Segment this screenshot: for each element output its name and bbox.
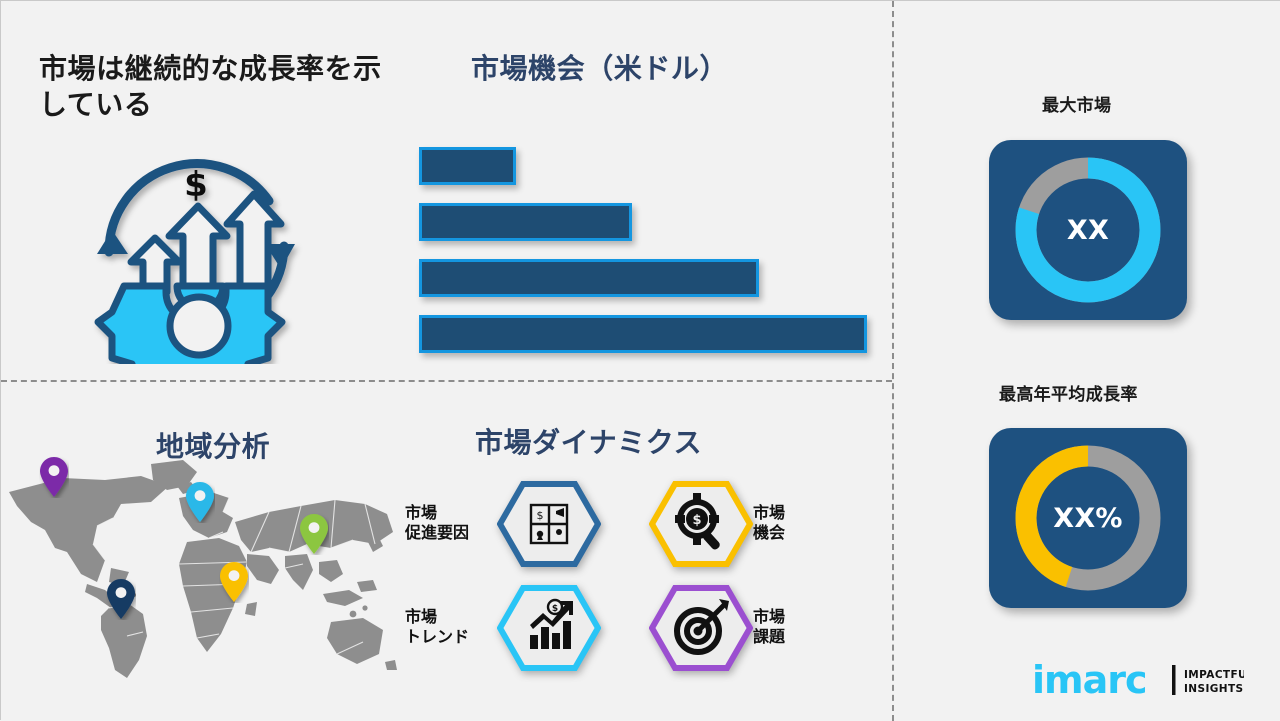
bar-row	[419, 203, 632, 241]
dynamics-panel-title: 市場ダイナミクス	[475, 425, 702, 461]
dynamics-item-label: 市場 促進要因	[405, 503, 497, 543]
bar-row	[419, 315, 867, 353]
map-pin-east-asia[interactable]	[299, 513, 329, 555]
dynamics-item-label: 市場 機会	[753, 503, 845, 543]
map-pin-europe[interactable]	[185, 481, 215, 523]
world-map	[1, 456, 401, 686]
bar-2	[419, 203, 632, 241]
hexagon-challenges	[649, 585, 749, 669]
dynamics-item-drivers[interactable]: 市場 促進要因 $	[405, 481, 597, 565]
growth-panel-title: 市場は継続的な成長率を示している	[39, 51, 389, 123]
growth-cycle-icon: $	[79, 134, 314, 364]
dynamics-item-opportunities[interactable]: $ 市場 機会	[649, 481, 845, 565]
horizontal-divider	[1, 380, 892, 382]
svg-text:$: $	[552, 604, 558, 614]
largest-market-title: 最大市場	[1042, 96, 1111, 118]
largest-market-donut	[989, 140, 1187, 320]
bar-3	[419, 259, 759, 297]
vertical-divider	[892, 1, 894, 721]
cagr-donut	[989, 428, 1187, 608]
cagr-title: 最高年平均成長率	[999, 385, 1138, 407]
svg-text:$: $	[537, 509, 544, 522]
bar-row	[419, 147, 516, 185]
largest-market-donut-card: XX	[989, 140, 1187, 320]
map-pin-africa-middle-east[interactable]	[219, 561, 249, 603]
hexagon-opportunities: $	[649, 481, 749, 565]
slide-canvas: 市場は継続的な成長率を示している $	[0, 0, 1280, 720]
bar-4	[419, 315, 867, 353]
svg-text:IMPACTFUL: IMPACTFUL	[1184, 669, 1244, 681]
market-opportunity-bar-chart	[419, 141, 879, 351]
dynamics-item-challenges[interactable]: 市場 課題	[649, 585, 845, 669]
svg-text:INSIGHTS: INSIGHTS	[1184, 683, 1244, 695]
cagr-donut-card: XX%	[989, 428, 1187, 608]
map-pin-north-america[interactable]	[39, 456, 69, 498]
hexagon-trends: $	[497, 585, 597, 669]
dynamics-item-label: 市場 課題	[753, 607, 845, 647]
opportunity-panel-title: 市場機会（米ドル）	[471, 51, 728, 87]
dynamics-item-label: 市場 トレンド	[405, 607, 497, 647]
svg-text:$: $	[692, 513, 701, 528]
imarc-logo: imarc IMPACTFUL INSIGHTS	[1032, 659, 1244, 703]
bar-1	[419, 147, 516, 185]
dynamics-item-trends[interactable]: 市場 トレンド $	[405, 585, 597, 669]
market-dynamics-grid: 市場 促進要因 $	[405, 481, 825, 681]
map-pin-south-america[interactable]	[106, 578, 136, 620]
svg-text:$: $	[184, 165, 208, 205]
hexagon-drivers: $	[497, 481, 597, 565]
svg-text:imarc: imarc	[1032, 659, 1147, 702]
bar-row	[419, 259, 759, 297]
